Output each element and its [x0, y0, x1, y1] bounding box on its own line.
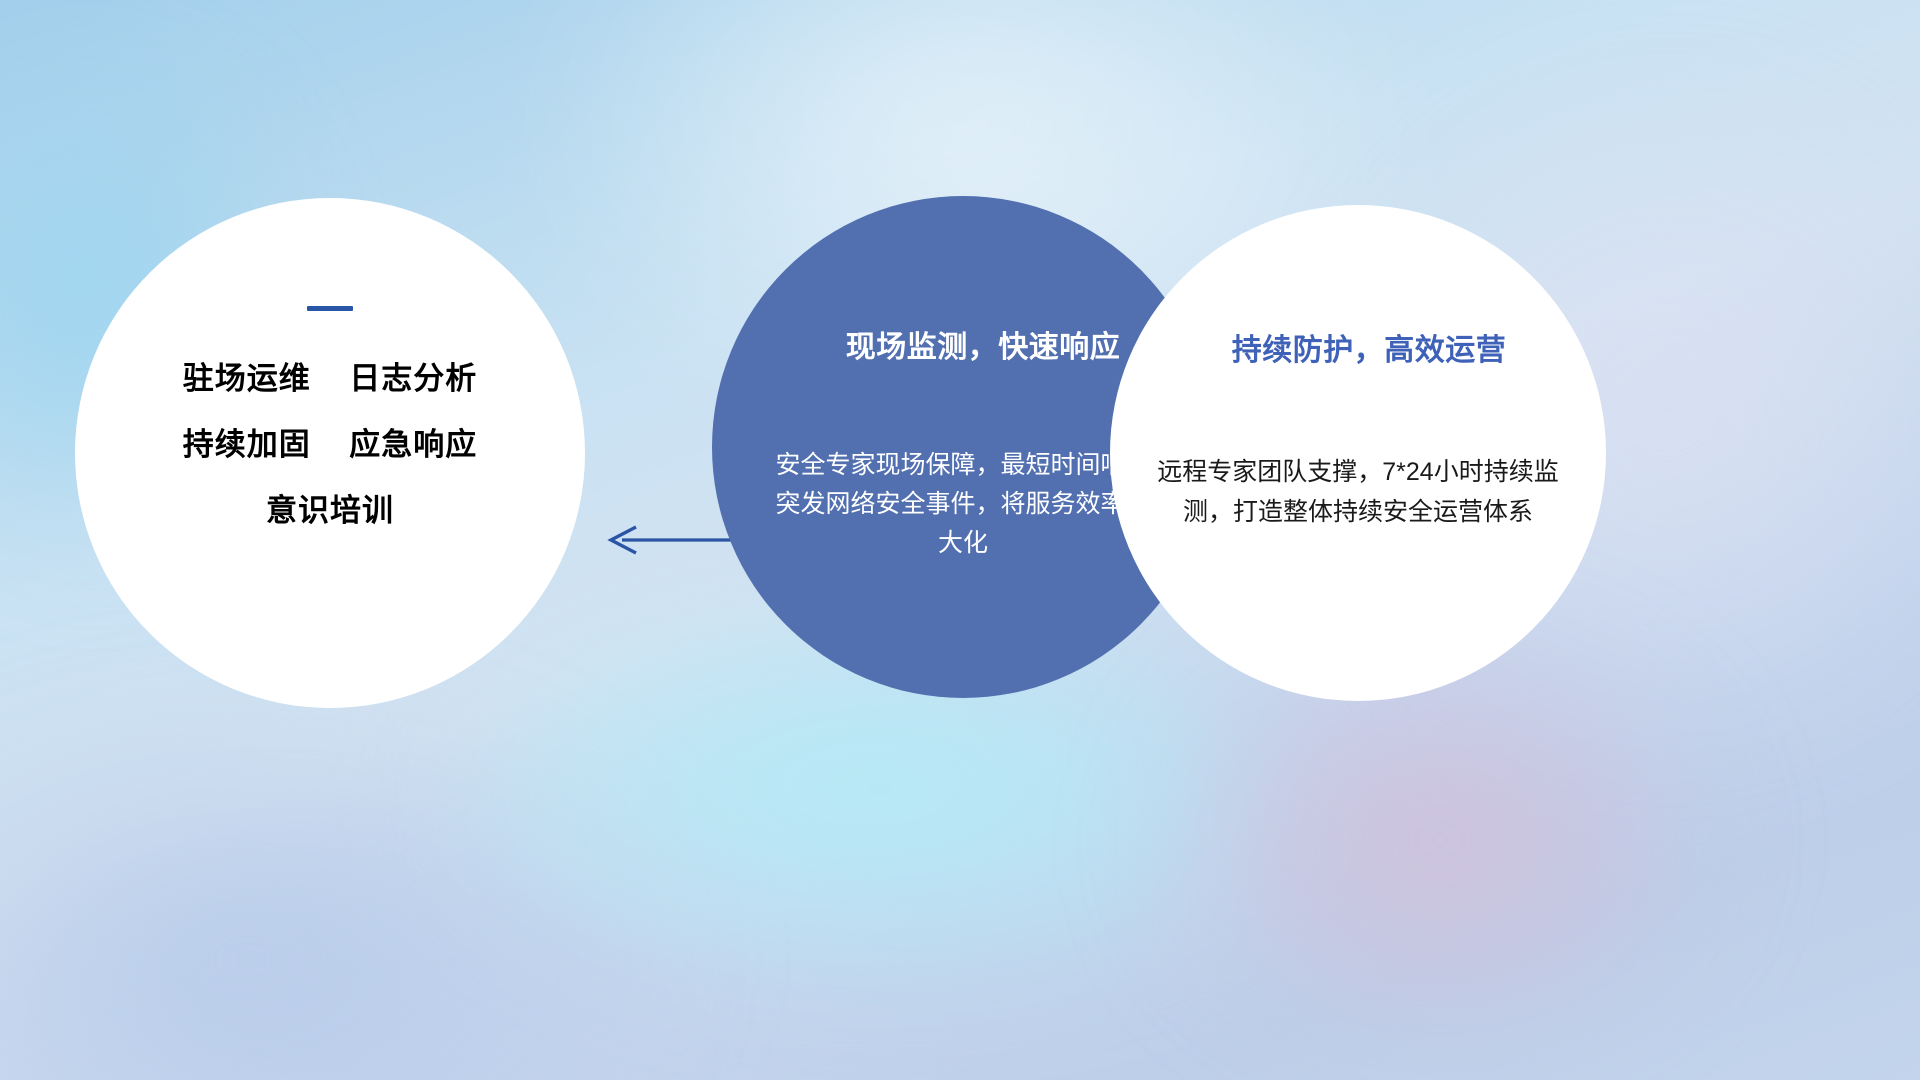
left-circle-content: 驻场运维 日志分析 持续加固 应急响应 意识培训 — [75, 306, 585, 526]
divider-dash-icon — [307, 306, 353, 311]
slide-canvas: 驻场运维 日志分析 持续加固 应急响应 意识培训 现场监测，快速响应 安全专家现… — [0, 0, 1920, 1080]
capability-circle-left[interactable]: 驻场运维 日志分析 持续加固 应急响应 意识培训 — [75, 198, 585, 708]
right-circle-body: 远程专家团队支撑，7*24小时持续监测，打造整体持续安全运营体系 — [1138, 453, 1578, 532]
middle-circle-body: 安全专家现场保障，最短时间响应突发网络安全事件，将服务效率最大化 — [764, 446, 1162, 562]
left-circle-line-2: 持续加固 应急响应 — [75, 429, 585, 460]
capability-circle-right[interactable]: 持续防护，高效运营 远程专家团队支撑，7*24小时持续监测，打造整体持续安全运营… — [1110, 205, 1606, 701]
right-circle-title: 持续防护，高效运营 — [1110, 325, 1606, 369]
background-glow-pink — [1160, 640, 1720, 1040]
left-circle-line-1: 驻场运维 日志分析 — [75, 363, 585, 394]
left-circle-line-3: 意识培训 — [75, 495, 585, 526]
